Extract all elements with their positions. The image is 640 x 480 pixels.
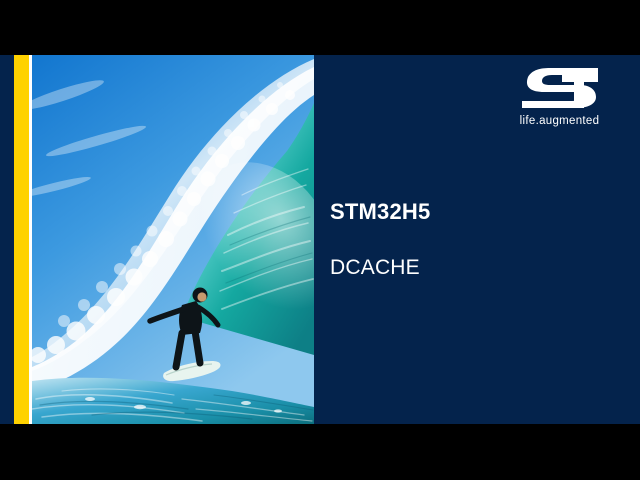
surfer-barrel-wave-photo: [32, 55, 314, 424]
slide-frame: life.augmented STM32H5 DCACHE: [0, 0, 640, 480]
st-logo-icon: [510, 63, 610, 111]
st-brand-logo: life.augmented: [497, 63, 622, 127]
brand-tagline: life.augmented: [497, 111, 622, 127]
title-block: STM32H5 DCACHE: [330, 201, 630, 278]
slide-content-band: life.augmented STM32H5 DCACHE: [0, 55, 640, 424]
title-panel: life.augmented STM32H5 DCACHE: [314, 55, 640, 424]
page-subtitle: DCACHE: [330, 223, 630, 278]
page-title: STM32H5: [330, 201, 630, 223]
yellow-accent-bar: [14, 55, 29, 424]
